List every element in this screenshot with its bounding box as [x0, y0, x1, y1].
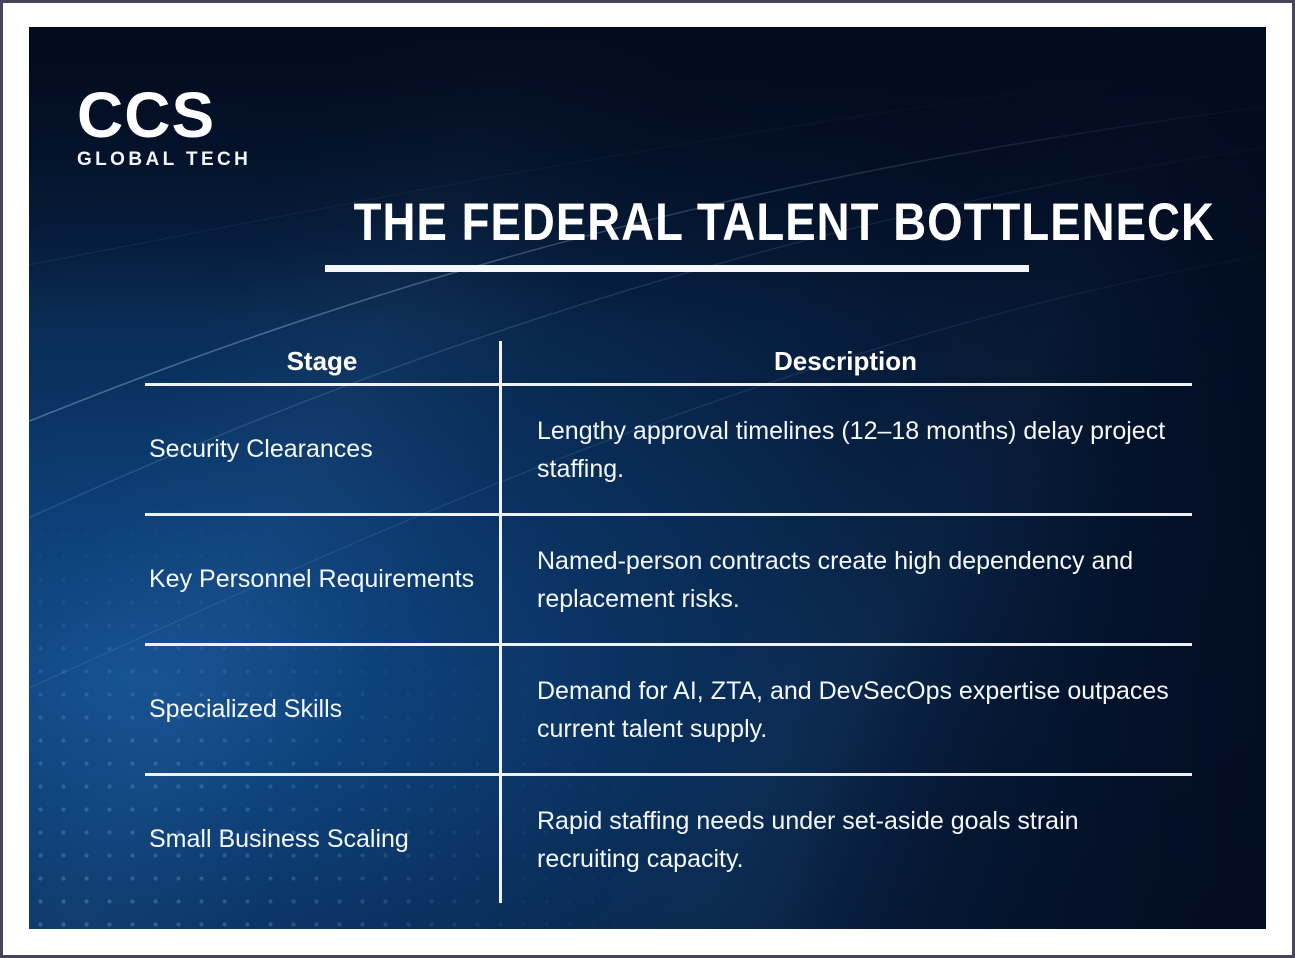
table-cell-description: Demand for AI, ZTA, and DevSecOps expert… — [499, 662, 1192, 758]
poster: CCS GLOBAL TECH THE FEDERAL TALENT BOTTL… — [0, 0, 1295, 958]
title-block: THE FEDERAL TALENT BOTTLENECK — [301, 195, 1053, 272]
table-inner: Stage Description Security Clearances Le… — [145, 335, 1192, 903]
brand-logo-mark: CCS — [77, 85, 317, 146]
table-cell-description: Rapid staffing needs under set-aside goa… — [499, 792, 1192, 888]
table-row: Key Personnel Requirements Named-person … — [145, 516, 1192, 643]
table-cell-stage: Security Clearances — [145, 421, 499, 478]
brand-logo-subtitle: GLOBAL TECH — [77, 149, 317, 171]
table-header-row: Stage Description — [145, 335, 1192, 383]
background-vignette-top — [29, 27, 1266, 327]
table-cell-stage: Key Personnel Requirements — [145, 551, 499, 608]
table-column-divider — [499, 341, 502, 903]
table-cell-stage: Specialized Skills — [145, 681, 499, 738]
poster-canvas: CCS GLOBAL TECH THE FEDERAL TALENT BOTTL… — [29, 27, 1266, 929]
table-cell-description: Lengthy approval timelines (12–18 months… — [499, 402, 1192, 498]
table-cell-stage: Small Business Scaling — [145, 811, 499, 868]
table-row: Small Business Scaling Rapid staffing ne… — [145, 776, 1192, 903]
table-cell-description: Named-person contracts create high depen… — [499, 532, 1192, 628]
table-row: Security Clearances Lengthy approval tim… — [145, 386, 1192, 513]
page-title: THE FEDERAL TALENT BOTTLENECK — [354, 195, 1001, 251]
brand-logo: CCS GLOBAL TECH — [77, 85, 317, 171]
table-row: Specialized Skills Demand for AI, ZTA, a… — [145, 646, 1192, 773]
table-header-description: Description — [499, 346, 1192, 383]
bottleneck-table: Stage Description Security Clearances Le… — [145, 335, 1192, 903]
title-underline-rule — [325, 265, 1029, 272]
table-header-stage: Stage — [145, 346, 499, 383]
